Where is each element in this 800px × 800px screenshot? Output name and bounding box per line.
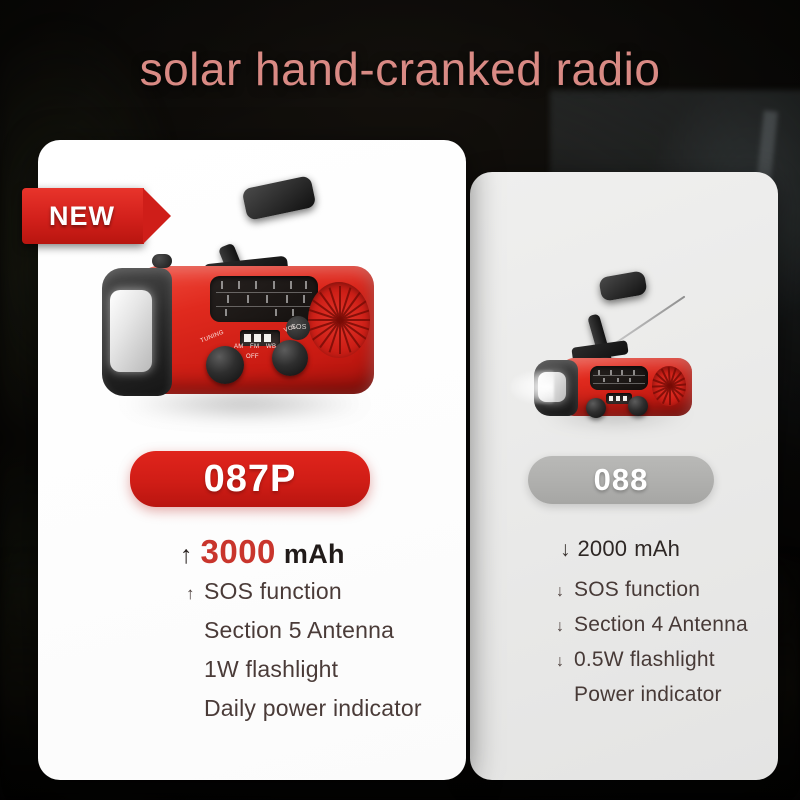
capacity-087p-value: 3000 xyxy=(201,533,276,571)
feature-marker: ↓ xyxy=(556,619,574,635)
fm-label: FM xyxy=(250,344,259,350)
am-label: AM xyxy=(234,344,244,350)
new-badge-label: NEW xyxy=(49,201,115,232)
power-button xyxy=(152,254,172,268)
product-image-088 xyxy=(516,252,726,432)
capacity-088-unit: mAh xyxy=(634,536,680,562)
feature-item: ↑ SOS function xyxy=(186,578,456,605)
feature-marker: ↑ xyxy=(186,585,204,602)
volume-knob xyxy=(628,396,648,416)
new-badge: NEW xyxy=(22,188,144,244)
off-label: OFF xyxy=(246,354,259,360)
flashlight-beam xyxy=(510,370,554,404)
capacity-088-marker: ↓ xyxy=(560,539,571,560)
model-badge-087p-label: 087P xyxy=(204,458,297,501)
feature-item: ↓ 0.5W flashlight xyxy=(556,648,796,672)
feature-list-088: ↓ SOS function ↓ Section 4 Antenna ↓ 0.5… xyxy=(556,578,796,707)
feature-marker: ↓ xyxy=(556,584,574,600)
feature-label: Daily power indicator xyxy=(204,695,422,722)
speaker-grille xyxy=(308,282,370,358)
feature-label: Power indicator xyxy=(574,683,722,707)
feature-list-087p: ↑ SOS function Section 5 Antenna 1W flas… xyxy=(186,578,456,722)
feature-label: Section 4 Antenna xyxy=(574,613,748,637)
crank-grip xyxy=(598,270,647,302)
speaker-grille xyxy=(652,366,686,406)
feature-label: SOS function xyxy=(204,578,342,605)
wb-label: WB xyxy=(266,344,276,350)
capacity-088-value: 2000 xyxy=(578,536,628,562)
model-badge-088: 088 xyxy=(528,456,714,504)
feature-item: Section 5 Antenna xyxy=(186,617,456,644)
feature-item: Power indicator xyxy=(556,683,796,707)
feature-marker: ↓ xyxy=(556,654,574,670)
tuning-knob xyxy=(586,398,606,418)
feature-item: 1W flashlight xyxy=(186,656,456,683)
capacity-087p: ↑ 3000 mAh xyxy=(180,533,345,571)
frequency-dial xyxy=(590,366,648,390)
feature-item: ↓ Section 4 Antenna xyxy=(556,613,796,637)
flashlight-lens xyxy=(110,290,152,372)
feature-label: Section 5 Antenna xyxy=(204,617,394,644)
page-title: solar hand-cranked radio xyxy=(0,42,800,96)
model-badge-088-label: 088 xyxy=(594,462,649,498)
feature-label: SOS function xyxy=(574,578,700,602)
capacity-088: ↓ 2000 mAh xyxy=(560,536,680,562)
model-badge-087p: 087P xyxy=(130,451,370,507)
frequency-dial xyxy=(210,276,318,322)
volume-knob xyxy=(272,340,308,376)
feature-item: ↓ SOS function xyxy=(556,578,796,602)
tuning-knob xyxy=(206,346,244,384)
crank-grip xyxy=(241,175,316,221)
feature-label: 0.5W flashlight xyxy=(574,648,715,672)
capacity-087p-marker: ↑ xyxy=(180,543,193,568)
capacity-087p-unit: mAh xyxy=(284,539,345,570)
feature-label: 1W flashlight xyxy=(204,656,338,683)
feature-item: Daily power indicator xyxy=(186,695,456,722)
